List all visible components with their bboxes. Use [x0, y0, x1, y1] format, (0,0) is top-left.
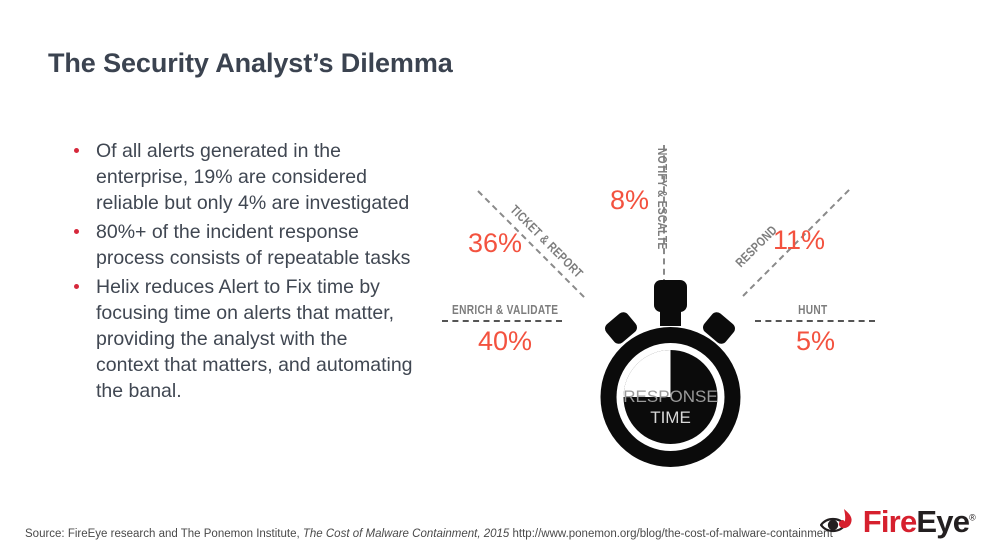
segment-value-hunt: 5%: [796, 326, 835, 357]
segment-value-respond: 11%: [773, 225, 825, 256]
source-footnote: Source: FireEye research and The Ponemon…: [25, 528, 833, 540]
logo-trademark: ®: [969, 513, 975, 523]
segment-value-ticket-report: 36%: [468, 228, 522, 259]
leader-line-hunt: [755, 320, 875, 322]
list-item: 80%+ of the incident response process co…: [70, 219, 415, 271]
fireeye-logo: FireEye®: [820, 506, 975, 537]
segment-value-notify-escalate: 8%: [610, 185, 649, 216]
response-time-diagram: ENRICH & VALIDATE 40% TICKET & REPORT 36…: [418, 130, 918, 470]
segment-label-hunt: HUNT: [798, 302, 827, 317]
stopwatch-center-label-line1: RESPONSE: [623, 387, 717, 406]
footnote-publication-title: The Cost of Malware Containment, 2015: [303, 528, 509, 540]
stopwatch-icon: RESPONSE TIME: [583, 280, 758, 470]
bullet-marker-icon: [74, 284, 79, 289]
segment-label-notify-escalate: NOTIFY & ESCALTE: [655, 148, 670, 250]
list-item: Helix reduces Alert to Fix time by focus…: [70, 274, 415, 404]
segment-label-enrich-validate: ENRICH & VALIDATE: [452, 302, 558, 317]
fireeye-eye-flame-icon: [820, 507, 858, 537]
fireeye-wordmark: FireEye®: [863, 506, 975, 537]
list-item-text: 80%+ of the incident response process co…: [96, 221, 410, 269]
list-item-text: Helix reduces Alert to Fix time by focus…: [96, 276, 413, 402]
stopwatch-stem-icon: [660, 304, 681, 326]
footnote-prefix: Source: FireEye research and The Ponemon…: [25, 528, 303, 540]
bullet-marker-icon: [74, 148, 79, 153]
segment-value-enrich-validate: 40%: [478, 326, 532, 357]
bullet-list: Of all alerts generated in the enterpris…: [70, 138, 415, 407]
list-item-text: Of all alerts generated in the enterpris…: [96, 140, 409, 214]
leader-line-enrich-validate: [442, 320, 562, 322]
list-item: Of all alerts generated in the enterpris…: [70, 138, 415, 216]
page-title: The Security Analyst’s Dilemma: [48, 48, 453, 79]
logo-word-eye: Eye: [916, 504, 969, 539]
stopwatch-center-label-line2: TIME: [650, 408, 691, 427]
logo-word-fire: Fire: [863, 504, 917, 539]
footnote-url[interactable]: http://www.ponemon.org/blog/the-cost-of-…: [509, 528, 832, 540]
bullet-marker-icon: [74, 229, 79, 234]
